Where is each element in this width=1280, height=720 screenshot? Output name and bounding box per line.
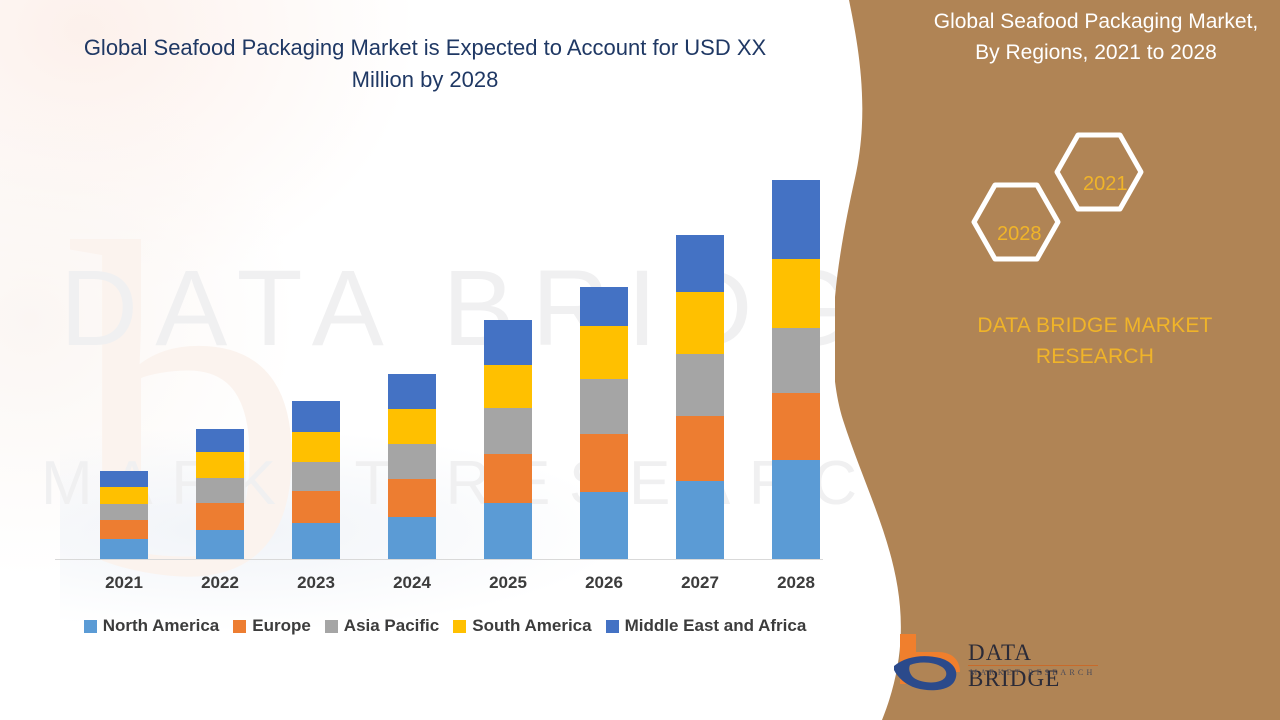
bar-segment [772,180,820,259]
bar-group [580,287,628,559]
bar-segment [484,454,532,504]
x-axis-tick-2026: 2026 [559,573,649,593]
bar-series-container [50,150,825,559]
brand-line-2: RESEARCH [940,341,1250,372]
bar-group [388,374,436,559]
bar-segment [196,530,244,559]
bar-segment [100,487,148,504]
bar-segment [772,393,820,460]
logo-subtitle: MARKET RESEARCH [970,668,1095,677]
bar-group [100,471,148,559]
bar-group [484,320,532,559]
bar-segment [388,444,436,478]
bar-segment [580,326,628,379]
company-logo: DATA BRIDGE MARKET RESEARCH [890,632,1120,702]
legend-label: South America [472,616,591,636]
bar-group [772,180,820,559]
bar-segment [580,287,628,326]
bar-group [292,401,340,559]
x-axis-tick-2028: 2028 [751,573,841,593]
bar-segment [292,491,340,524]
bar-segment [484,408,532,453]
bar-segment [292,401,340,432]
bar-segment [484,503,532,559]
logo-wordmark: DATA BRIDGE [968,640,1120,692]
legend-item[interactable]: North America [84,616,220,636]
legend-swatch-icon [453,620,466,633]
bar-segment [772,328,820,393]
legend-item[interactable]: Middle East and Africa [606,616,807,636]
legend-label: Europe [252,616,311,636]
logo-divider [968,665,1098,666]
bar-segment [580,492,628,559]
bar-segment [292,462,340,490]
bar-segment [676,481,724,559]
bar-segment [196,503,244,530]
hexagon-badges: 2021 2028 [965,130,1165,265]
bar-segment [100,471,148,487]
bar-segment [388,479,436,518]
bar-segment [196,452,244,478]
x-axis-tick-2023: 2023 [271,573,361,593]
legend-swatch-icon [325,620,338,633]
bar-segment [196,429,244,452]
legend-label: North America [103,616,220,636]
hexagon-label-2028: 2028 [997,223,1042,246]
chart-legend: North AmericaEuropeAsia PacificSouth Ame… [50,616,840,636]
brand-name: DATA BRIDGE MARKET RESEARCH [940,310,1250,372]
x-axis-labels: 20212022202320242025202620272028 [50,573,825,599]
bar-segment [388,409,436,445]
bar-segment [580,434,628,491]
bar-group [196,429,244,559]
x-axis-tick-2024: 2024 [367,573,457,593]
bar-segment [292,432,340,463]
legend-label: Middle East and Africa [625,616,807,636]
legend-item[interactable]: Asia Pacific [325,616,439,636]
infographic-canvas: b DATA BRIDGE MARKET RESEARCH Global Sea… [0,0,1280,720]
bar-segment [676,292,724,354]
right-panel: Global Seafood Packaging Market, By Regi… [835,0,1280,720]
bar-segment [676,416,724,481]
x-axis-line [55,559,823,560]
brand-line-1: DATA BRIDGE MARKET [940,310,1250,341]
legend-item[interactable]: Europe [233,616,311,636]
hexagon-outlines-icon [965,130,1165,265]
legend-swatch-icon [606,620,619,633]
bar-segment [100,539,148,559]
bar-segment [388,517,436,559]
data-bridge-mark-icon [890,632,970,694]
bar-segment [100,520,148,539]
legend-item[interactable]: South America [453,616,591,636]
legend-swatch-icon [233,620,246,633]
chart-title: Global Seafood Packaging Market is Expec… [60,32,790,96]
x-axis-tick-2025: 2025 [463,573,553,593]
bar-segment [580,379,628,435]
hexagon-label-2021: 2021 [1083,173,1128,196]
bar-segment [388,374,436,408]
bar-segment [676,235,724,292]
legend-swatch-icon [84,620,97,633]
bar-segment [772,259,820,328]
x-axis-tick-2022: 2022 [175,573,265,593]
chart [50,150,825,562]
x-axis-tick-2021: 2021 [79,573,169,593]
x-axis-tick-2027: 2027 [655,573,745,593]
panel-title: Global Seafood Packaging Market, By Regi… [931,6,1261,68]
bar-segment [484,365,532,409]
bar-segment [100,504,148,519]
bar-segment [772,460,820,559]
legend-label: Asia Pacific [344,616,439,636]
bar-segment [196,478,244,502]
bar-segment [484,320,532,365]
bar-segment [676,354,724,416]
bar-group [676,235,724,559]
bar-segment [292,523,340,559]
